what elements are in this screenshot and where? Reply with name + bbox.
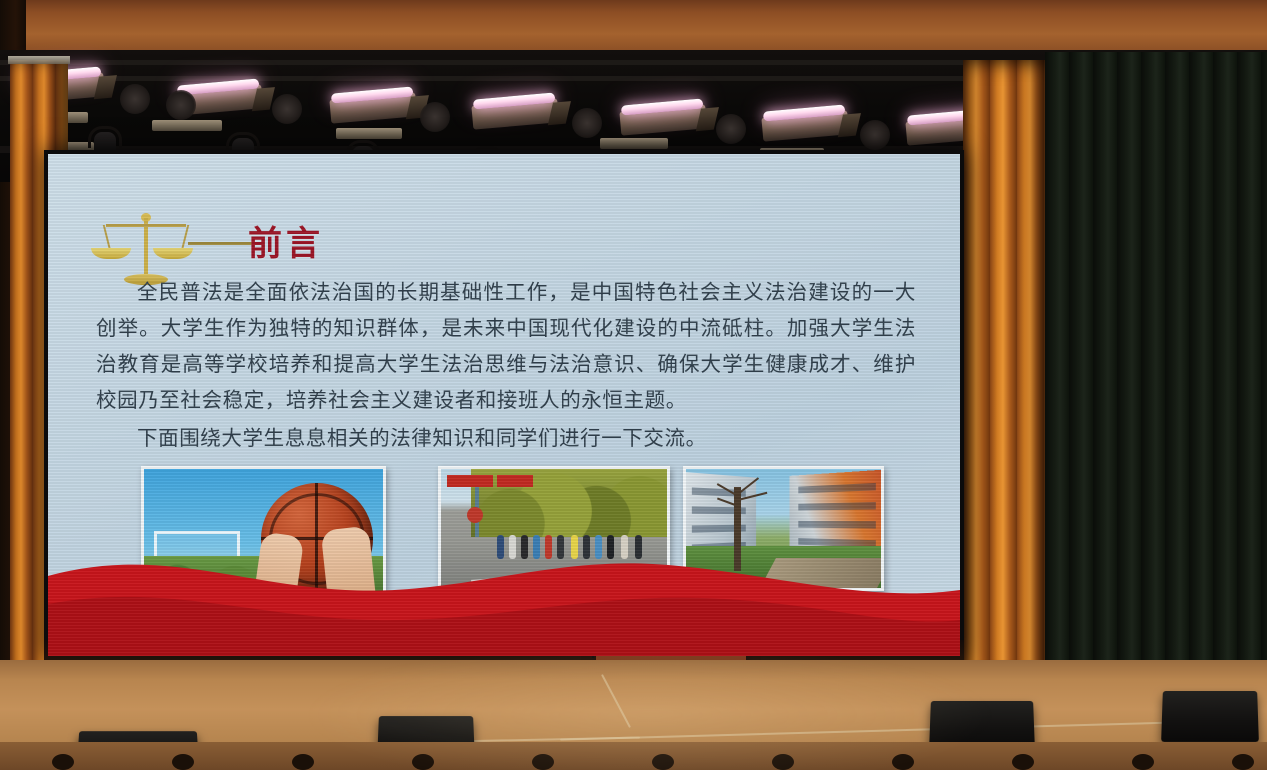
floor-monitor: [1161, 691, 1259, 742]
title-underline: [188, 242, 252, 245]
led-presentation-screen: 前言 全民普法是全面依法治国的长期基础性工作，是中国特色社会主义法治建设的一大创…: [44, 150, 964, 660]
truss-plate: [152, 120, 222, 131]
stage-curtain-right: [963, 60, 1051, 685]
stage-vent-hole: [172, 754, 194, 770]
truss-plate: [600, 138, 668, 149]
stage-vent-hole: [772, 754, 794, 770]
light-glow-blob: [716, 114, 746, 144]
slide-canvas: 前言 全民普法是全面依法治国的长期基础性工作，是中国特色社会主义法治建设的一大创…: [48, 154, 960, 656]
bar-light: [619, 96, 708, 137]
stage-vent-hole: [412, 754, 434, 770]
stage-vent-hole: [52, 754, 74, 770]
light-glow-blob: [860, 120, 890, 150]
red-ribbon-wave: [48, 524, 960, 656]
curtain-rail-left: [8, 56, 70, 64]
stage-vent-hole: [652, 754, 674, 770]
light-glow-blob: [166, 90, 196, 120]
stage-vent-hole: [1012, 754, 1034, 770]
bar-light: [329, 84, 418, 125]
light-glow-blob: [120, 84, 150, 114]
stage-vent-hole: [1132, 754, 1154, 770]
light-glow-blob: [572, 108, 602, 138]
stage-vent-hole: [292, 754, 314, 770]
light-glow-blob: [420, 102, 450, 132]
light-glow-blob: [272, 94, 302, 124]
bar-light: [761, 102, 850, 143]
stage-vent-hole: [892, 754, 914, 770]
slide-title: 前言: [248, 216, 324, 265]
stage-vent-hole: [1232, 754, 1254, 770]
slide-body-text: 全民普法是全面依法治国的长期基础性工作，是中国特色社会主义法治建设的一大创举。大…: [96, 274, 916, 456]
slide-paragraph-1: 全民普法是全面依法治国的长期基础性工作，是中国特色社会主义法治建设的一大创举。大…: [96, 274, 916, 418]
slide-paragraph-2: 下面围绕大学生息息相关的法律知识和同学们进行一下交流。: [96, 420, 916, 456]
stage-curtain-dark: [1045, 52, 1267, 692]
bar-light: [471, 90, 560, 131]
stage-vent-hole: [532, 754, 554, 770]
auditorium-stage-photo: 前言 全民普法是全面依法治国的长期基础性工作，是中国特色社会主义法治建设的一大创…: [0, 0, 1267, 770]
